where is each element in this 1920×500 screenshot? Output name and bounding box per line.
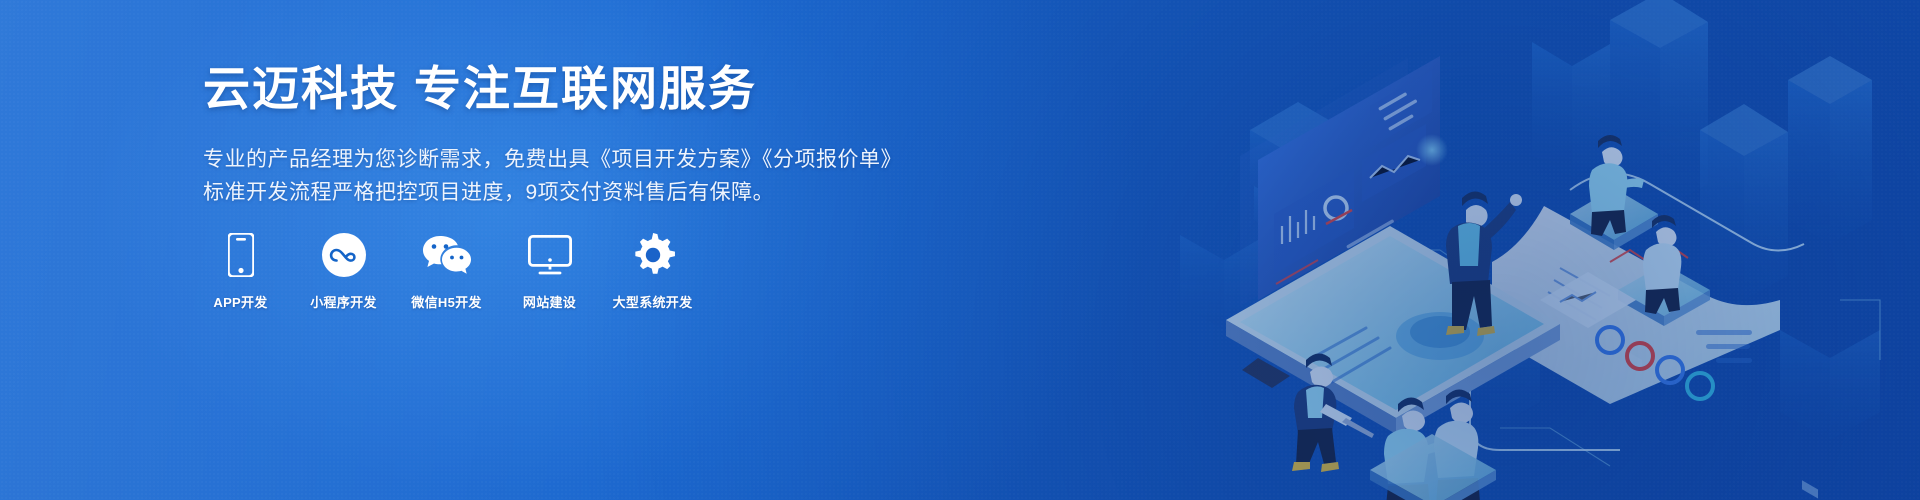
banner-subtitle: 专业的产品经理为您诊断需求，免费出具《项目开发方案》《分项报价单》 标准开发流程… [203, 143, 903, 209]
service-list: APP开发 小程序开发 微信 [203, 232, 690, 311]
service-item-app[interactable]: APP开发 [203, 232, 278, 311]
service-item-large-system[interactable]: 大型系统开发 [615, 232, 690, 311]
service-item-website[interactable]: 网站建设 [512, 232, 587, 311]
service-item-mini-program[interactable]: 小程序开发 [306, 232, 381, 311]
banner-copy: 云迈科技 专注互联网服务 专业的产品经理为您诊断需求，免费出具《项目开发方案》《… [203, 60, 903, 209]
illustration-isometric-dashboard [1140, 0, 1920, 500]
service-label: 网站建设 [523, 292, 576, 311]
mini-program-icon [322, 232, 366, 278]
wechat-icon [422, 232, 472, 278]
person-mid-plate [1643, 215, 1681, 314]
mobile-phone-icon [228, 232, 254, 278]
service-label: 大型系统开发 [613, 292, 693, 311]
service-label: 小程序开发 [310, 292, 377, 311]
page-title: 云迈科技 专注互联网服务 [203, 60, 903, 119]
service-label: APP开发 [213, 292, 267, 311]
service-label: 微信H5开发 [411, 292, 481, 311]
service-item-wechat-h5[interactable]: 微信H5开发 [409, 232, 484, 311]
hero-banner: 云迈科技 专注互联网服务 专业的产品经理为您诊断需求，免费出具《项目开发方案》《… [0, 0, 1920, 500]
subtitle-line-1: 专业的产品经理为您诊断需求，免费出具《项目开发方案》《分项报价单》 [203, 143, 903, 176]
gear-icon [631, 232, 675, 278]
monitor-icon [528, 232, 572, 278]
subtitle-line-2: 标准开发流程严格把控项目进度，9项交付资料售后有保障。 [203, 176, 903, 209]
